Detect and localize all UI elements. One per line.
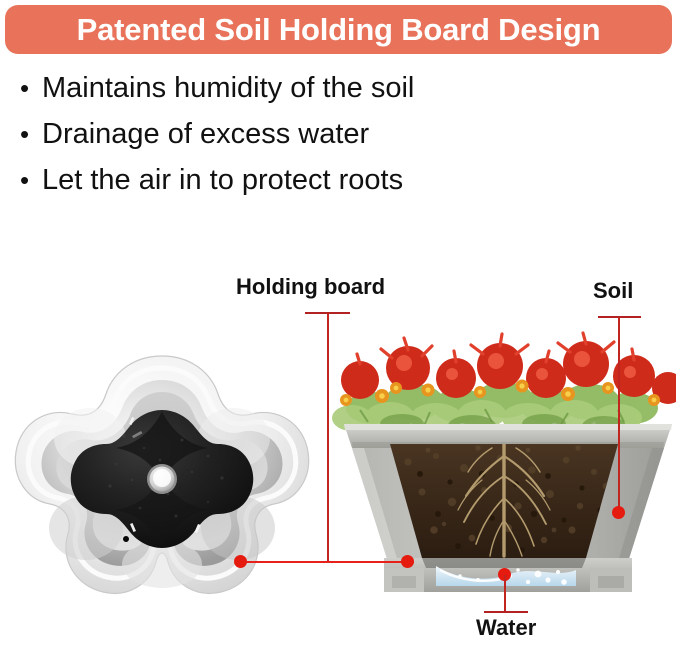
callout-label-soil: Soil	[593, 278, 633, 304]
header-banner: Patented Soil Holding Board Design	[5, 5, 672, 54]
bullet-dot-icon: •	[20, 121, 42, 147]
page-title: Patented Soil Holding Board Design	[77, 14, 601, 45]
planter-topdown-photo	[12, 352, 312, 617]
pot-crosssection-photo	[332, 330, 676, 598]
water-connector-vertical	[504, 575, 506, 612]
list-item: • Let the air in to protect roots	[20, 164, 540, 210]
soil-marker	[612, 506, 625, 519]
list-item: • Drainage of excess water	[20, 118, 540, 164]
list-item-label: Let the air in to protect roots	[42, 164, 403, 197]
list-item-label: Maintains humidity of the soil	[42, 72, 414, 105]
callout-label-water: Water	[476, 615, 536, 641]
soil-connector-vertical	[618, 317, 620, 513]
holding-board-marker-right	[401, 555, 414, 568]
list-item: • Maintains humidity of the soil	[20, 72, 540, 118]
holding-board-connector-horizontal	[240, 561, 414, 563]
bullet-dot-icon: •	[20, 167, 42, 193]
feature-list: • Maintains humidity of the soil • Drain…	[20, 72, 540, 210]
bullet-dot-icon: •	[20, 75, 42, 101]
callout-label-holding-board: Holding board	[236, 274, 385, 300]
water-underline	[484, 611, 528, 613]
holding-board-marker-left	[234, 555, 247, 568]
holding-board-connector-vertical	[327, 313, 329, 562]
list-item-label: Drainage of excess water	[42, 118, 369, 151]
infographic-page: Patented Soil Holding Board Design • Mai…	[0, 0, 679, 647]
